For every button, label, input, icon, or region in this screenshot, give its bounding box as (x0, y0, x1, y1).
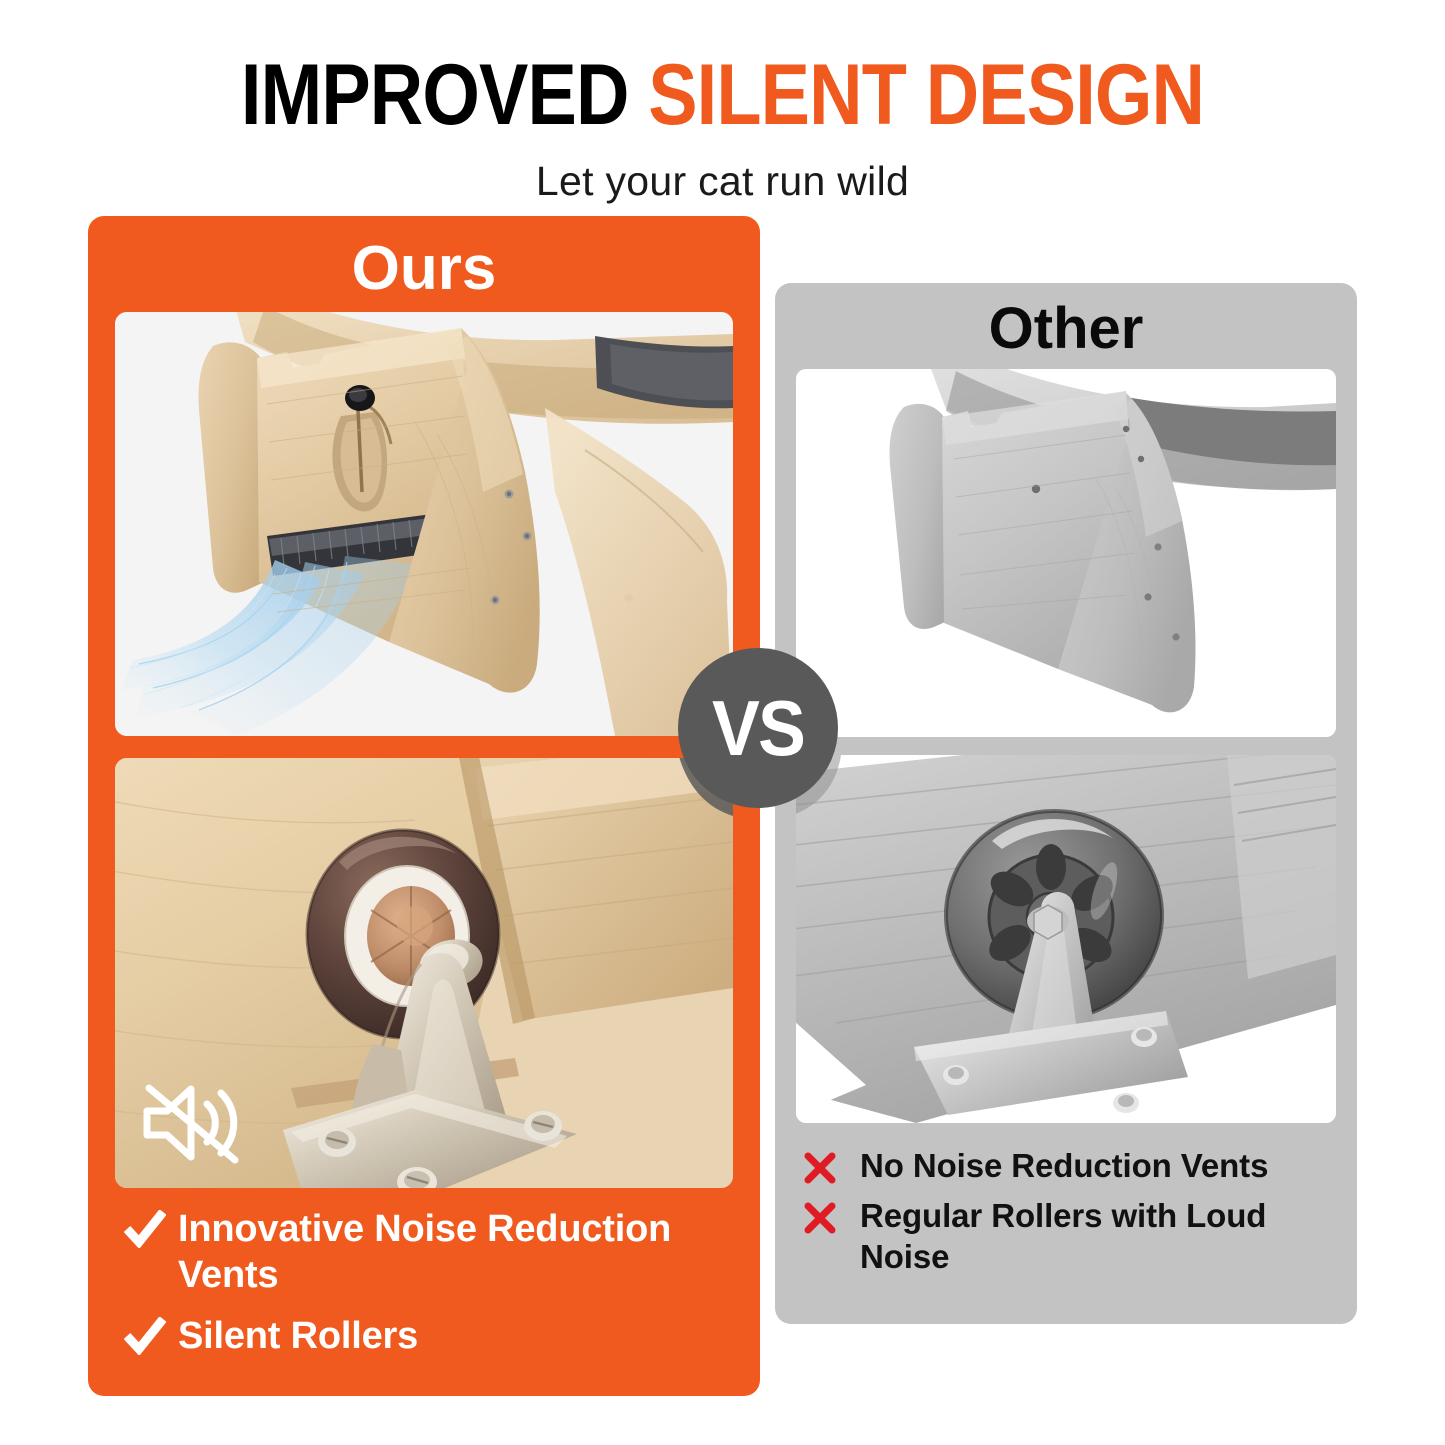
vs-badge-label: VS (712, 683, 804, 774)
list-item-label: Silent Rollers (178, 1313, 418, 1359)
mute-speaker-icon (141, 1080, 241, 1166)
list-item: Regular Rollers with Loud Noise (802, 1195, 1342, 1278)
plain-base-photo (796, 369, 1336, 737)
ours-panel: Ours (88, 216, 760, 1396)
list-item: No Noise Reduction Vents (802, 1145, 1342, 1187)
page-title: IMPROVED SILENT DESIGN (101, 52, 1344, 138)
list-item-label: No Noise Reduction Vents (860, 1145, 1268, 1187)
list-item: Innovative Noise Reduction Vents (124, 1206, 734, 1299)
ours-panel-heading: Ours (88, 238, 760, 300)
check-icon (124, 1206, 178, 1248)
other-feature-list: No Noise Reduction Vents Regular Rollers… (802, 1145, 1342, 1286)
x-icon (802, 1195, 860, 1236)
ours-feature-list: Innovative Noise Reduction Vents Silent … (124, 1206, 734, 1373)
page-subtitle: Let your cat run wild (0, 158, 1445, 205)
other-panel-heading: Other (775, 300, 1357, 358)
regular-roller-photo (796, 755, 1336, 1123)
title-part-improved: IMPROVED (241, 47, 648, 143)
noise-reduction-vent-photo (115, 312, 733, 736)
other-panel: Other (775, 283, 1357, 1324)
check-icon (124, 1313, 178, 1355)
header: IMPROVED SILENT DESIGN Let your cat run … (0, 0, 1445, 216)
vs-badge: VS (678, 648, 838, 808)
list-item-label: Regular Rollers with Loud Noise (860, 1195, 1342, 1278)
silent-roller-photo (115, 758, 733, 1188)
list-item: Silent Rollers (124, 1313, 734, 1359)
list-item-label: Innovative Noise Reduction Vents (178, 1206, 734, 1299)
title-part-silent-design: SILENT DESIGN (648, 47, 1204, 143)
x-icon (802, 1145, 860, 1186)
